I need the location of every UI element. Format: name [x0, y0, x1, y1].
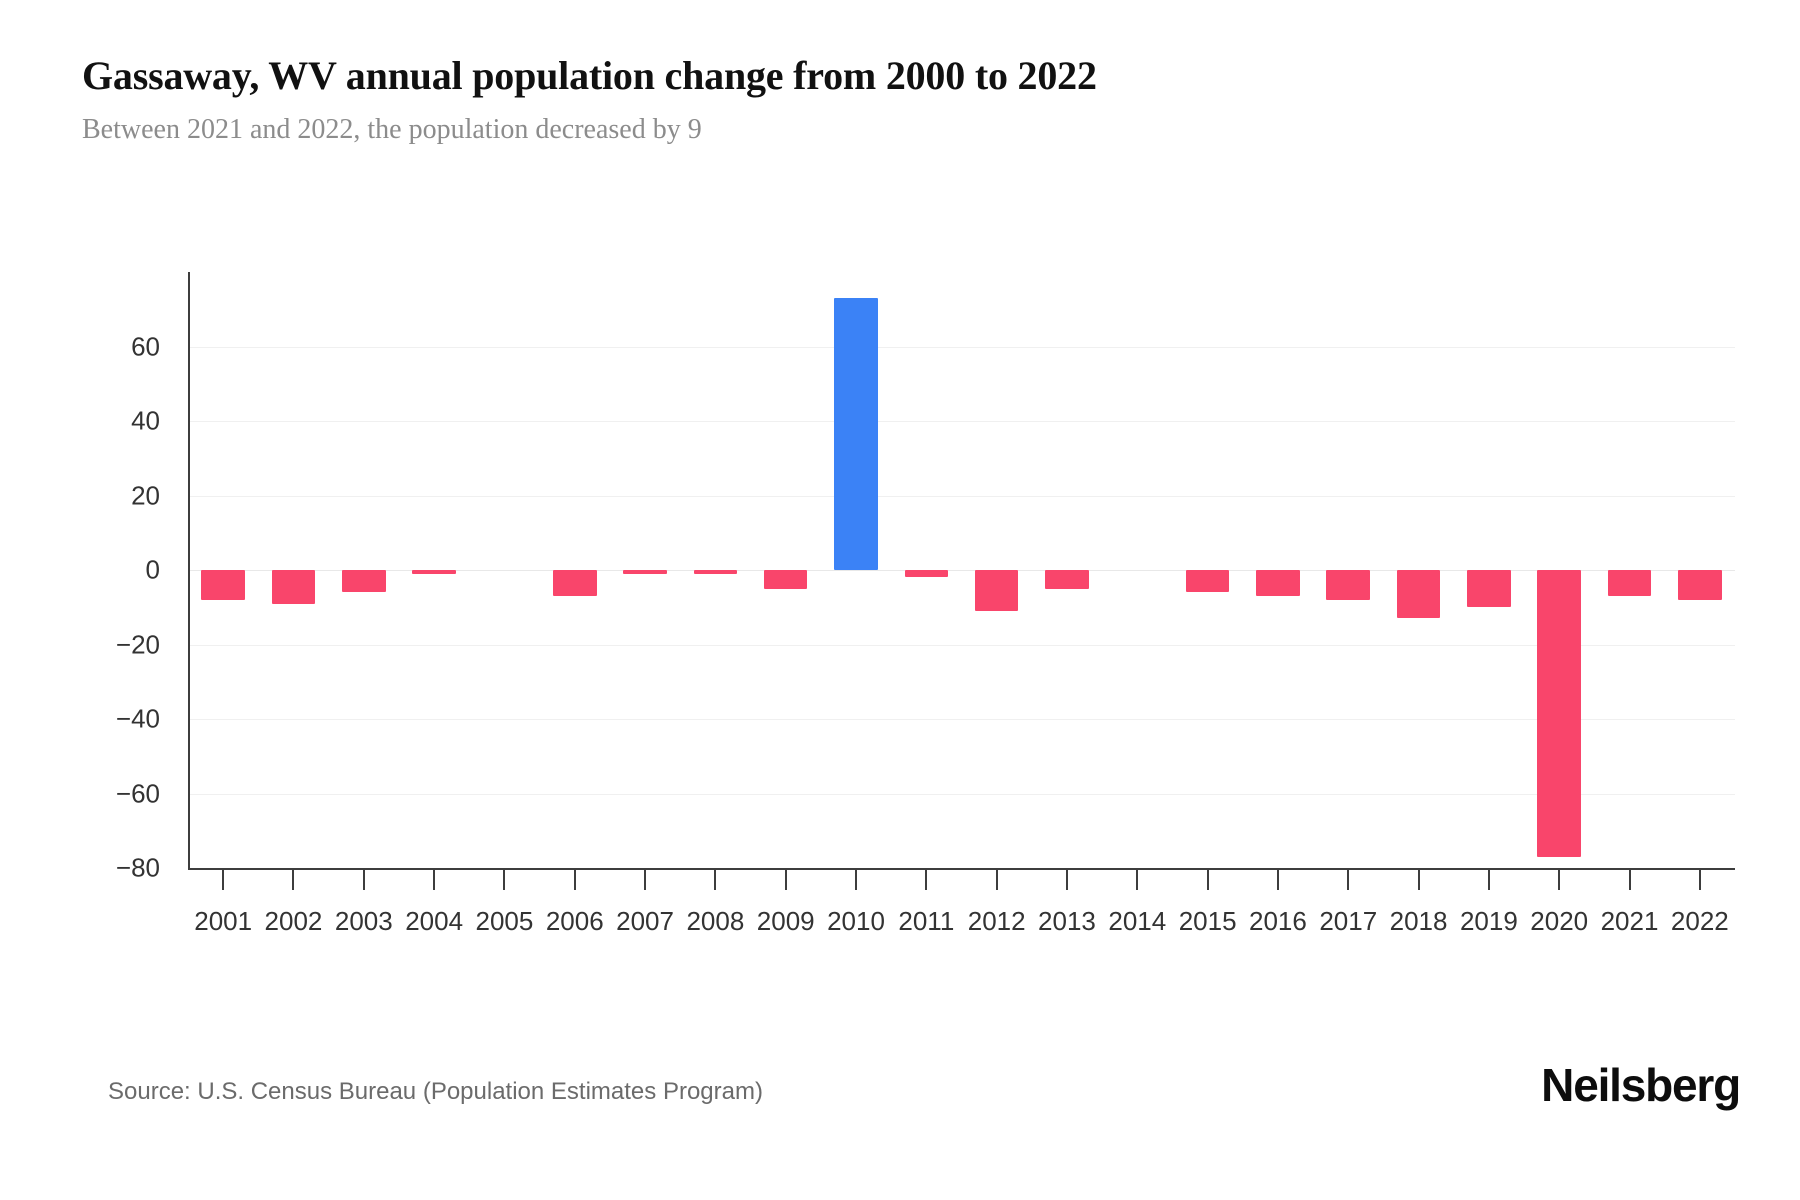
bar-2012[interactable]	[975, 570, 1019, 611]
x-tick-label-2022: 2022	[1671, 906, 1729, 937]
x-axis-tick	[1488, 868, 1490, 890]
bar-2010[interactable]	[834, 298, 878, 570]
x-tick-label-2002: 2002	[265, 906, 323, 937]
x-axis-tick	[1418, 868, 1420, 890]
bar-2016[interactable]	[1256, 570, 1300, 596]
x-axis-tick	[574, 868, 576, 890]
bar-2006[interactable]	[553, 570, 597, 596]
x-axis-tick	[996, 868, 998, 890]
x-axis-tick	[1699, 868, 1701, 890]
bar-2018[interactable]	[1397, 570, 1441, 618]
bar-2001[interactable]	[201, 570, 245, 600]
bar-2008[interactable]	[694, 570, 738, 574]
x-axis-tick	[644, 868, 646, 890]
chart-page: Gassaway, WV annual population change fr…	[0, 0, 1800, 1200]
bar-2009[interactable]	[764, 570, 808, 589]
bar-2003[interactable]	[342, 570, 386, 592]
x-axis-tick	[1066, 868, 1068, 890]
bar-2015[interactable]	[1186, 570, 1230, 592]
x-tick-label-2016: 2016	[1249, 906, 1307, 937]
y-tick-label: −40	[40, 704, 160, 735]
y-tick-label: 40	[40, 406, 160, 437]
x-axis-tick	[503, 868, 505, 890]
x-tick-label-2007: 2007	[616, 906, 674, 937]
bar-2007[interactable]	[623, 570, 667, 574]
x-tick-label-2012: 2012	[968, 906, 1026, 937]
x-axis-tick	[1347, 868, 1349, 890]
y-tick-label: −80	[40, 853, 160, 884]
x-tick-label-2018: 2018	[1390, 906, 1448, 937]
brand-logo: Neilsberg	[1541, 1058, 1740, 1112]
x-axis-tick	[1207, 868, 1209, 890]
y-tick-label: −20	[40, 629, 160, 660]
x-axis-tick	[1558, 868, 1560, 890]
x-tick-label-2015: 2015	[1179, 906, 1237, 937]
bar-2022[interactable]	[1678, 570, 1722, 600]
bars-group	[188, 0, 1735, 1200]
x-tick-label-2013: 2013	[1038, 906, 1096, 937]
x-tick-label-2011: 2011	[898, 906, 954, 937]
x-tick-label-2017: 2017	[1319, 906, 1377, 937]
y-tick-label: 0	[40, 555, 160, 586]
x-axis-tick	[292, 868, 294, 890]
bar-2019[interactable]	[1467, 570, 1511, 607]
x-axis-tick	[363, 868, 365, 890]
x-tick-label-2014: 2014	[1108, 906, 1166, 937]
x-axis-tick	[785, 868, 787, 890]
bar-2020[interactable]	[1537, 570, 1581, 857]
bar-2002[interactable]	[272, 570, 316, 604]
x-tick-label-2004: 2004	[405, 906, 463, 937]
y-tick-label: 60	[40, 331, 160, 362]
x-axis-tick	[855, 868, 857, 890]
bar-2013[interactable]	[1045, 570, 1089, 589]
x-axis-tick	[925, 868, 927, 890]
x-axis-tick	[1136, 868, 1138, 890]
y-tick-label: 20	[40, 480, 160, 511]
x-tick-label-2003: 2003	[335, 906, 393, 937]
x-axis-tick	[714, 868, 716, 890]
chart-plot-area: 6040200−20−40−60−80 20012002200320042005…	[0, 0, 1800, 1200]
x-axis-tick	[433, 868, 435, 890]
y-tick-label: −60	[40, 778, 160, 809]
x-tick-label-2008: 2008	[686, 906, 744, 937]
x-tick-label-2020: 2020	[1530, 906, 1588, 937]
bar-2011[interactable]	[905, 570, 949, 577]
x-tick-label-2006: 2006	[546, 906, 604, 937]
x-tick-label-2021: 2021	[1601, 906, 1659, 937]
x-tick-label-2010: 2010	[827, 906, 885, 937]
x-tick-label-2009: 2009	[757, 906, 815, 937]
bar-2004[interactable]	[412, 570, 456, 574]
x-axis-tick	[1277, 868, 1279, 890]
x-tick-label-2001: 2001	[194, 906, 252, 937]
x-tick-label-2005: 2005	[476, 906, 534, 937]
bar-2017[interactable]	[1326, 570, 1370, 600]
x-axis-tick	[222, 868, 224, 890]
bar-2021[interactable]	[1608, 570, 1652, 596]
source-note: Source: U.S. Census Bureau (Population E…	[108, 1078, 763, 1106]
x-tick-label-2019: 2019	[1460, 906, 1518, 937]
x-axis-tick	[1629, 868, 1631, 890]
